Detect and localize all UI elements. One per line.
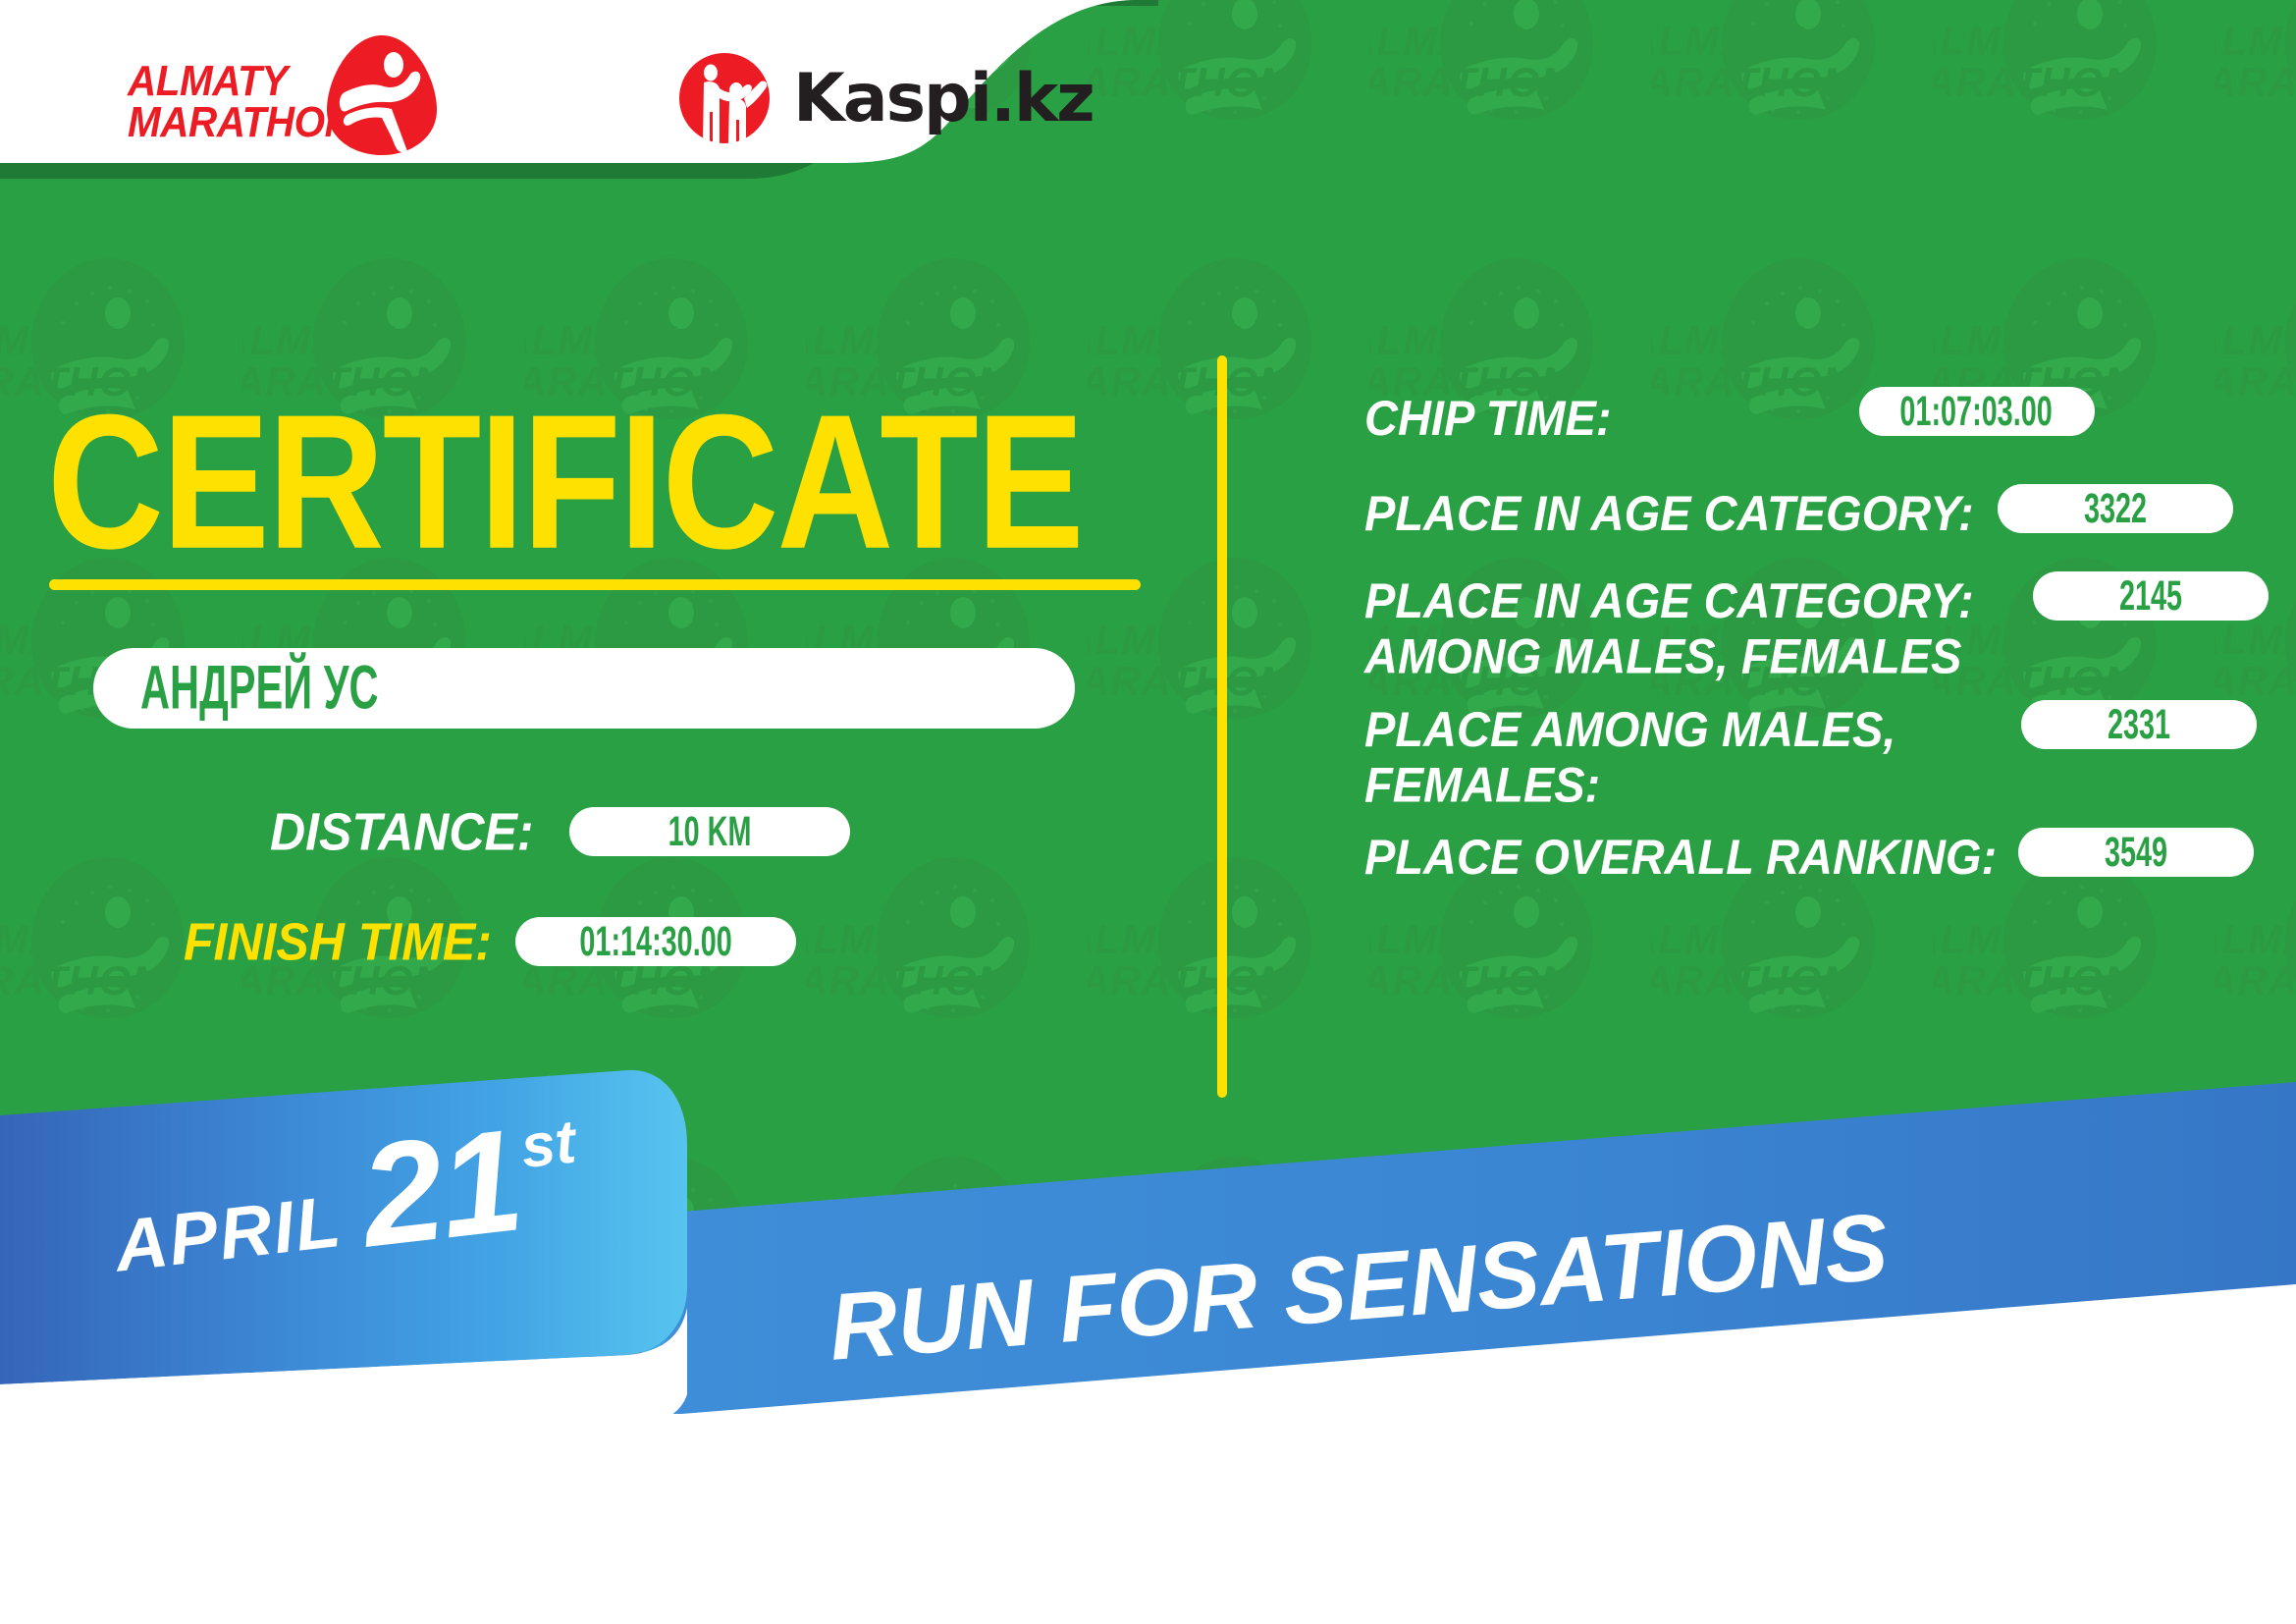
overall-ranking-value-pill: 3549: [2018, 828, 2254, 877]
kaspi-people-circle-icon: [677, 51, 772, 145]
distance-value-pill: 10 KM: [569, 807, 850, 856]
age-category-among-row: PLACE IN AGE CATEGORY: AMONG MALES, FEMA…: [1364, 573, 2269, 677]
header-logos: ALMATY MARATHON: [0, 0, 1158, 187]
distance-value: 10 KM: [667, 807, 751, 856]
overall-ranking-row: PLACE OVERALL RANKING: 3549: [1364, 830, 2254, 882]
almaty-marathon-logo: ALMATY MARATHON: [128, 43, 432, 161]
title-divider: [49, 579, 1141, 590]
overall-ranking-value: 3549: [2105, 828, 2167, 877]
overall-ranking-label: PLACE OVERALL RANKING:: [1364, 830, 1997, 885]
males-females-value-pill: 2331: [2021, 700, 2257, 749]
finish-time-value-pill: 01:14:30.00: [515, 917, 796, 966]
age-category-label: PLACE IN AGE CATEGORY:: [1364, 486, 1974, 541]
age-category-value: 3322: [2084, 484, 2147, 533]
finish-time-label: FINISH TIME:: [184, 911, 492, 973]
participant-name-field: АНДРЕЙ УС: [93, 648, 1075, 729]
males-females-label: PLACE AMONG MALES, FEMALES:: [1364, 702, 1896, 813]
almaty-marathon-runner-drop-icon: [323, 31, 441, 159]
males-females-value: 2331: [2108, 700, 2170, 749]
page-title: CERTIFICATE: [47, 386, 1083, 577]
event-day: 21: [355, 1114, 527, 1263]
kaspi-name: Kaspi.kz: [793, 60, 1094, 137]
age-category-value-pill: 3322: [1998, 484, 2233, 533]
chip-time-value: 01:07:03.00: [1900, 387, 2053, 436]
males-females-row: PLACE AMONG MALES, FEMALES: 2331: [1364, 702, 2257, 805]
age-category-among-value: 2145: [2119, 571, 2182, 621]
column-divider: [1217, 355, 1227, 1098]
finish-time-row: FINISH TIME: 01:14:30.00: [184, 913, 796, 970]
age-category-among-label: PLACE IN AGE CATEGORY: AMONG MALES, FEMA…: [1364, 573, 1974, 684]
age-category-row: PLACE IN AGE CATEGORY: 3322: [1364, 486, 2233, 538]
chip-time-label: CHIP TIME:: [1364, 391, 1612, 446]
distance-label: DISTANCE:: [270, 801, 534, 863]
participant-name: АНДРЕЙ УС: [140, 652, 379, 724]
event-day-suffix: st: [517, 1107, 579, 1182]
sponsor-bar: [0, 1414, 2296, 1624]
age-category-among-value-pill: 2145: [2033, 571, 2269, 621]
certificate-page: ALMATY MARATHON ALMATY MARATHON: [0, 0, 2296, 1624]
chip-time-value-pill: 01:07:03.00: [1859, 387, 2095, 436]
finish-time-value: 01:14:30.00: [579, 917, 731, 966]
distance-row: DISTANCE: 10 KM: [270, 803, 850, 860]
kaspi-logo: Kaspi.kz: [677, 51, 1094, 145]
chip-time-row: CHIP TIME: 01:07:03.00: [1364, 391, 2095, 443]
